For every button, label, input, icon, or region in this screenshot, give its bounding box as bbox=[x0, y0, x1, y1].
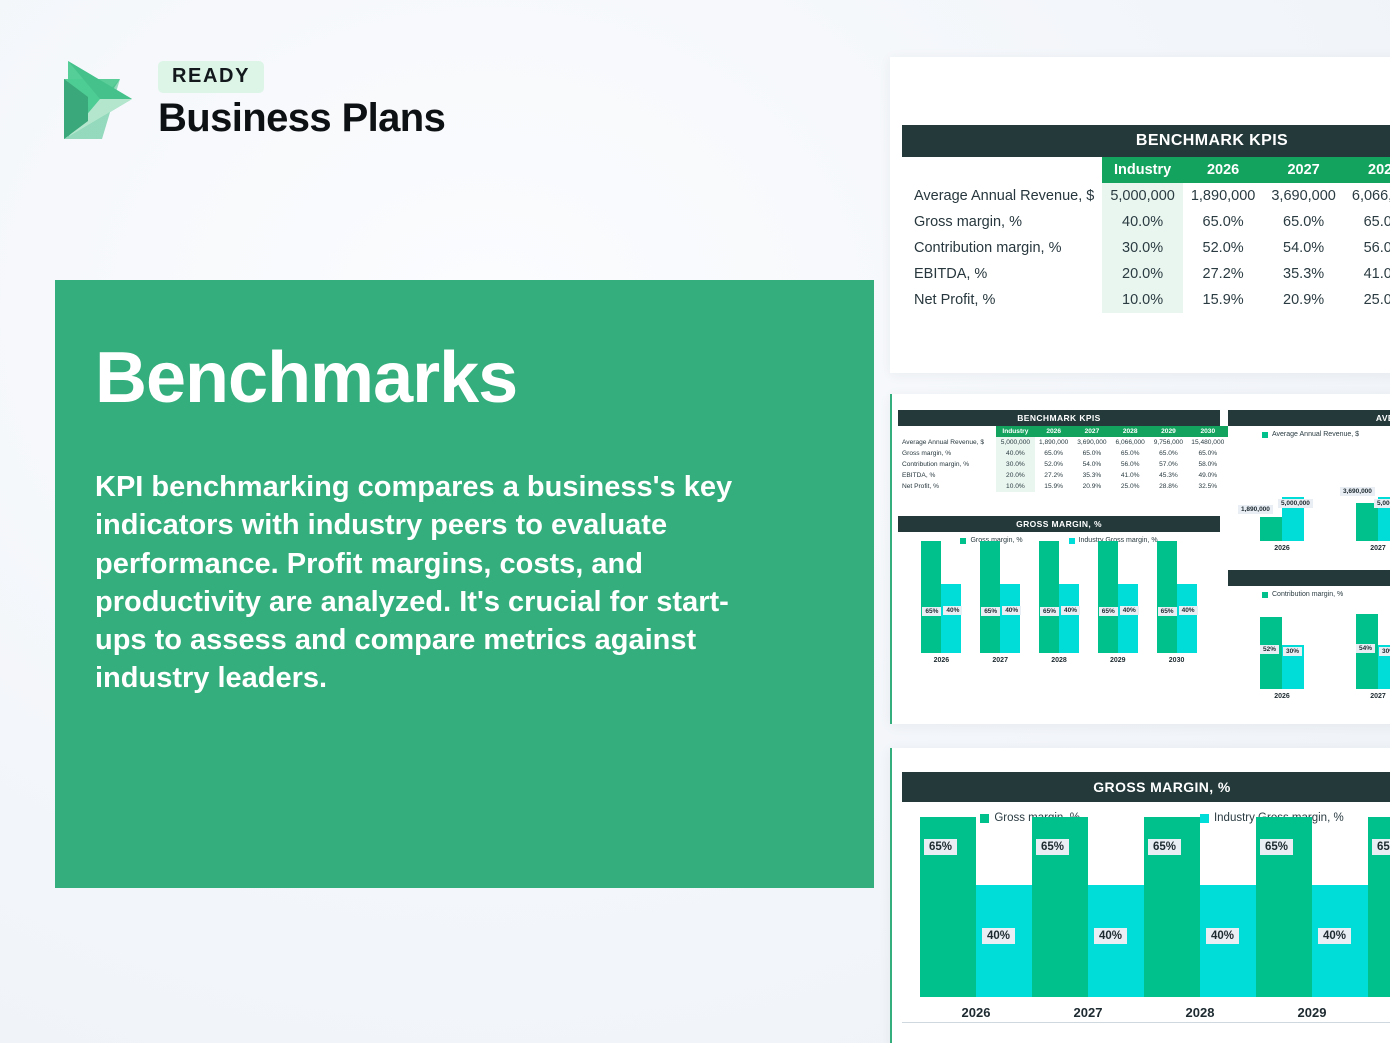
legend-item-contribution-margin: Contribution margin, % bbox=[1262, 591, 1343, 598]
cell-2026: 65.0% bbox=[1183, 209, 1264, 235]
bar-value-label: 65% bbox=[1040, 607, 1059, 616]
cell-2027: 65.0% bbox=[1263, 209, 1344, 235]
bar-industry-gross-margin: 40% bbox=[1088, 885, 1144, 997]
cell-2028: 56.0% bbox=[1111, 459, 1149, 470]
cell-2029: 28.8% bbox=[1149, 481, 1187, 492]
table-header-row: Industry 2026 2027 2028 2029 2030 bbox=[902, 157, 1390, 183]
bar-group: 1,890,000 5,000,000 2026 bbox=[1260, 497, 1304, 552]
bar-value-label: 40% bbox=[1061, 606, 1080, 615]
legend-label: Contribution margin, % bbox=[1272, 591, 1343, 598]
chart-plot-area: 65% 40% 2026 65% 40% 2027 65% 40% 2028 6… bbox=[902, 828, 1390, 1020]
bar-revenue: 1,890,000 bbox=[1260, 517, 1282, 541]
chart-gross-margin-small: GROSS MARGIN, % Gross margin, % Industry… bbox=[898, 516, 1220, 664]
cell-2029: 9,756,000 bbox=[1149, 437, 1187, 448]
cell-2030: 32.5% bbox=[1188, 481, 1228, 492]
bar-contribution-margin: 52% bbox=[1260, 617, 1282, 689]
table-row: Average Annual Revenue, $ 5,000,000 1,89… bbox=[902, 183, 1390, 209]
chart-average-annual-revenue: AVERAGE ANNUAL REVENUE, $ Average Annual… bbox=[1228, 410, 1390, 552]
x-axis-label: 2027 bbox=[992, 657, 1008, 664]
cell-industry: 10.0% bbox=[996, 481, 1034, 492]
cell-2028: 65.0% bbox=[1111, 448, 1149, 459]
x-axis-label: 2027 bbox=[1370, 545, 1386, 552]
table-row: Net Profit, % 10.0% 15.9% 20.9% 25.0% 28… bbox=[898, 481, 1228, 492]
table-row: Contribution margin, % 30.0% 52.0% 54.0%… bbox=[898, 459, 1228, 470]
bar-value-label: 65% bbox=[1158, 607, 1177, 616]
cell-industry: 10.0% bbox=[1102, 287, 1183, 313]
row-label: Gross margin, % bbox=[898, 448, 996, 459]
cell-industry: 40.0% bbox=[996, 448, 1034, 459]
col-header-2026: 2026 bbox=[1035, 426, 1073, 437]
row-label: Contribution margin, % bbox=[898, 459, 996, 470]
bar-gross-margin: 65% bbox=[1039, 541, 1059, 653]
x-axis-label: 2027 bbox=[1074, 1005, 1103, 1020]
row-label: EBITDA, % bbox=[898, 470, 996, 481]
bar-value-label: 40% bbox=[1094, 928, 1127, 944]
cell-industry: 5,000,000 bbox=[1102, 183, 1183, 209]
bar-group: 65% 40% 2028 bbox=[1144, 817, 1256, 1020]
cell-2027: 35.3% bbox=[1073, 470, 1111, 481]
x-axis-label: 2026 bbox=[1274, 545, 1290, 552]
bar-gross-margin: 65% bbox=[920, 817, 976, 997]
row-label: Contribution margin, % bbox=[902, 235, 1102, 261]
bar-industry-gross-margin: 40% bbox=[1312, 885, 1368, 997]
bar-industry-revenue: 5,000,000 bbox=[1282, 497, 1304, 541]
bar-gross-margin: 65% bbox=[1032, 817, 1088, 997]
chart-title: AVERAGE ANNUAL REVENUE, $ bbox=[1228, 410, 1390, 426]
bar-industry-contribution: 30% bbox=[1282, 645, 1304, 689]
bar-value-label: 5,000,000 bbox=[1374, 499, 1390, 508]
x-axis-label: 2026 bbox=[1274, 693, 1290, 700]
cell-2026: 65.0% bbox=[1035, 448, 1073, 459]
col-header-industry: Industry bbox=[1102, 157, 1183, 183]
cell-2029: 45.3% bbox=[1149, 470, 1187, 481]
chart-title: CONTRIBUTION MARGIN, % bbox=[1228, 570, 1390, 586]
kpi-table-card-large: BENCHMARK KPIS Industry 2026 2027 2028 2… bbox=[890, 57, 1390, 373]
bar-value-label: 40% bbox=[1002, 606, 1021, 615]
cell-2028: 65.0% bbox=[1344, 209, 1390, 235]
benchmark-kpis-widget-small: BENCHMARK KPIS Industry 2026 2027 2028 2… bbox=[898, 410, 1228, 492]
bar-gross-margin: 65% bbox=[980, 541, 1000, 653]
bar-value-label: 65% bbox=[1148, 839, 1181, 855]
play-triangle-logo-icon bbox=[58, 55, 138, 145]
bar-value-label: 65% bbox=[1260, 839, 1293, 855]
cell-industry: 20.0% bbox=[1102, 261, 1183, 287]
bar-value-label: 40% bbox=[943, 606, 962, 615]
cell-2026: 15.9% bbox=[1183, 287, 1264, 313]
x-axis-label: 2026 bbox=[962, 1005, 991, 1020]
cell-2026: 52.0% bbox=[1035, 459, 1073, 470]
cell-industry: 40.0% bbox=[1102, 209, 1183, 235]
bar-value-label: 40% bbox=[1206, 928, 1239, 944]
cell-2030: 65.0% bbox=[1188, 448, 1228, 459]
table-row: Net Profit, % 10.0% 15.9% 20.9% 25.0% 28… bbox=[902, 287, 1390, 313]
legend-item-average-annual-revenue: Average Annual Revenue, $ bbox=[1262, 431, 1359, 438]
cell-industry: 30.0% bbox=[996, 459, 1034, 470]
bar-industry-revenue: 5,000,000 bbox=[1378, 497, 1390, 541]
cell-2027: 20.9% bbox=[1073, 481, 1111, 492]
x-axis-label: 2028 bbox=[1186, 1005, 1215, 1020]
bar-value-label: 54% bbox=[1356, 644, 1375, 653]
chart-title: GROSS MARGIN, % bbox=[898, 516, 1220, 532]
bar-group: 54% 30% 2027 bbox=[1356, 614, 1390, 700]
cell-2028: 41.0% bbox=[1111, 470, 1149, 481]
benchmark-kpis-title: BENCHMARK KPIS bbox=[902, 125, 1390, 157]
bar-gross-margin: 65% bbox=[1157, 541, 1177, 653]
bar-industry-gross-margin: 40% bbox=[1059, 584, 1079, 653]
chart-gross-margin-large: GROSS MARGIN, % Gross margin, % Industry… bbox=[902, 772, 1390, 1023]
bar-group: 52% 30% 2026 bbox=[1260, 617, 1304, 700]
col-header-2029: 2029 bbox=[1149, 426, 1187, 437]
bar-industry-gross-margin: 40% bbox=[1118, 584, 1138, 653]
cell-2028: 25.0% bbox=[1111, 481, 1149, 492]
cell-2028: 25.0% bbox=[1344, 287, 1390, 313]
cell-2027: 54.0% bbox=[1263, 235, 1344, 261]
bar-group: 65% 40% 2026 bbox=[920, 817, 1032, 1020]
brand-ready-chip: READY bbox=[158, 61, 264, 93]
bar-value-label: 30% bbox=[1379, 647, 1390, 656]
cell-2029: 65.0% bbox=[1149, 448, 1187, 459]
chart-legend: Average Annual Revenue, $ bbox=[1228, 426, 1390, 440]
bar-value-label: 40% bbox=[1179, 606, 1198, 615]
table-header-row: Industry 2026 2027 2028 2029 2030 bbox=[898, 426, 1228, 437]
benchmark-kpis-title-small: BENCHMARK KPIS bbox=[898, 410, 1220, 426]
cell-2030: 49.0% bbox=[1188, 470, 1228, 481]
cell-2030: 58.0% bbox=[1188, 459, 1228, 470]
cell-2027: 20.9% bbox=[1263, 287, 1344, 313]
row-label: Gross margin, % bbox=[902, 209, 1102, 235]
cell-2027: 65.0% bbox=[1073, 448, 1111, 459]
bar-industry-gross-margin: 40% bbox=[1000, 584, 1020, 653]
bar-gross-margin: 65% bbox=[1368, 817, 1390, 997]
cell-2030: 15,480,000 bbox=[1188, 437, 1228, 448]
bar-gross-margin: 65% bbox=[1098, 541, 1118, 653]
col-header-2030: 2030 bbox=[1188, 426, 1228, 437]
col-header-industry: Industry bbox=[996, 426, 1034, 437]
cell-2028: 56.0% bbox=[1344, 235, 1390, 261]
bar-group: 65% 40% 2029 bbox=[1256, 817, 1368, 1020]
legend-swatch-icon bbox=[1262, 592, 1268, 598]
chart-card-bottom: GROSS MARGIN, % Gross margin, % Industry… bbox=[890, 748, 1390, 1043]
benchmark-kpis-table: Industry 2026 2027 2028 2029 2030 Averag… bbox=[902, 157, 1390, 313]
bar-group: 65% 40% 2027 bbox=[980, 541, 1020, 664]
bar-contribution-margin: 54% bbox=[1356, 614, 1378, 689]
cell-2028: 6,066,000 bbox=[1111, 437, 1149, 448]
table-row: Average Annual Revenue, $ 5,000,000 1,89… bbox=[898, 437, 1228, 448]
cell-2026: 1,890,000 bbox=[1035, 437, 1073, 448]
cell-2027: 3,690,000 bbox=[1073, 437, 1111, 448]
cell-2026: 27.2% bbox=[1183, 261, 1264, 287]
bar-group: 65% 40% 2029 bbox=[1098, 541, 1138, 664]
table-row: Gross margin, % 40.0% 65.0% 65.0% 65.0% … bbox=[902, 209, 1390, 235]
x-axis-label: 2028 bbox=[1051, 657, 1067, 664]
bar-gross-margin: 65% bbox=[921, 541, 941, 653]
bar-revenue: 3,690,000 bbox=[1356, 503, 1378, 541]
bar-value-label: 65% bbox=[981, 607, 1000, 616]
col-header-2026: 2026 bbox=[1183, 157, 1264, 183]
bar-value-label: 65% bbox=[1036, 839, 1069, 855]
col-header-2028: 2028 bbox=[1111, 426, 1149, 437]
page-description: KPI benchmarking compares a business's k… bbox=[95, 468, 755, 698]
cell-industry: 5,000,000 bbox=[996, 437, 1034, 448]
cell-2027: 35.3% bbox=[1263, 261, 1344, 287]
row-label: Average Annual Revenue, $ bbox=[902, 183, 1102, 209]
table-row: Gross margin, % 40.0% 65.0% 65.0% 65.0% … bbox=[898, 448, 1228, 459]
bar-industry-gross-margin: 40% bbox=[1177, 584, 1197, 653]
row-label: Average Annual Revenue, $ bbox=[898, 437, 996, 448]
benchmark-kpis-table-small: Industry 2026 2027 2028 2029 2030 Averag… bbox=[898, 426, 1228, 492]
chart-plot-area: 52% 30% 2026 54% 30% 2027 56% 30% 2028 bbox=[1228, 600, 1390, 700]
legend-label: Average Annual Revenue, $ bbox=[1272, 431, 1359, 438]
mid-right-column: AVERAGE ANNUAL REVENUE, $ Average Annual… bbox=[1228, 394, 1390, 724]
col-header-2027: 2027 bbox=[1263, 157, 1344, 183]
bar-value-label: 3,690,000 bbox=[1340, 487, 1375, 496]
chart-legend: Contribution margin, % bbox=[1228, 586, 1390, 600]
content-panel: Benchmarks KPI benchmarking compares a b… bbox=[55, 280, 874, 888]
col-header-2028: 2028 bbox=[1344, 157, 1390, 183]
bar-industry-gross-margin: 40% bbox=[1200, 885, 1256, 997]
bar-industry-gross-margin: 40% bbox=[941, 584, 961, 653]
cell-2027: 3,690,000 bbox=[1263, 183, 1344, 209]
chart-plot-area: 65% 40% 2026 65% 40% 2027 65% 40% 2028 6… bbox=[898, 546, 1220, 664]
brand-name: Business Plans bbox=[158, 97, 445, 139]
cell-2026: 1,890,000 bbox=[1183, 183, 1264, 209]
x-axis-label: 2029 bbox=[1298, 1005, 1327, 1020]
benchmark-kpis-widget: BENCHMARK KPIS Industry 2026 2027 2028 2… bbox=[902, 125, 1390, 313]
chart-plot-area: 1,890,000 5,000,000 2026 3,690,000 5,000… bbox=[1228, 440, 1390, 552]
bar-group: 65% 40% 2028 bbox=[1039, 541, 1079, 664]
bar-value-label: 5,000,000 bbox=[1278, 499, 1313, 508]
bar-value-label: 40% bbox=[1120, 606, 1139, 615]
bar-group: 3,690,000 5,000,000 2027 bbox=[1356, 497, 1390, 552]
cell-2029: 57.0% bbox=[1149, 459, 1187, 470]
cell-2026: 52.0% bbox=[1183, 235, 1264, 261]
x-axis-label: 2030 bbox=[1169, 657, 1185, 664]
bar-value-label: 30% bbox=[1283, 647, 1302, 656]
cell-2026: 15.9% bbox=[1035, 481, 1073, 492]
bar-group: 65% 40% 2030 bbox=[1157, 541, 1197, 664]
bar-industry-contribution: 30% bbox=[1378, 645, 1390, 689]
cell-2026: 27.2% bbox=[1035, 470, 1073, 481]
x-axis-label: 2026 bbox=[934, 657, 950, 664]
col-header-2027: 2027 bbox=[1073, 426, 1111, 437]
mid-left-column: BENCHMARK KPIS Industry 2026 2027 2028 2… bbox=[898, 394, 1228, 724]
legend-swatch-icon bbox=[1262, 432, 1268, 438]
table-row: EBITDA, % 20.0% 27.2% 35.3% 41.0% 45.3% … bbox=[898, 470, 1228, 481]
cell-industry: 20.0% bbox=[996, 470, 1034, 481]
bar-group: 65% 40% 2026 bbox=[921, 541, 961, 664]
bar-value-label: 65% bbox=[922, 607, 941, 616]
x-axis-label: 2029 bbox=[1110, 657, 1126, 664]
cell-industry: 30.0% bbox=[1102, 235, 1183, 261]
x-axis-line bbox=[902, 1022, 1390, 1023]
bar-gross-margin: 65% bbox=[1256, 817, 1312, 997]
table-row: Contribution margin, % 30.0% 52.0% 54.0%… bbox=[902, 235, 1390, 261]
row-label: Net Profit, % bbox=[902, 287, 1102, 313]
row-label: EBITDA, % bbox=[902, 261, 1102, 287]
bar-value-label: 65% bbox=[1372, 839, 1390, 855]
bar-value-label: 40% bbox=[1318, 928, 1351, 944]
x-axis-label: 2027 bbox=[1370, 693, 1386, 700]
dashboard-card-middle: BENCHMARK KPIS Industry 2026 2027 2028 2… bbox=[890, 394, 1390, 724]
row-label: Net Profit, % bbox=[898, 481, 996, 492]
bar-gross-margin: 65% bbox=[1144, 817, 1200, 997]
cell-2028: 6,066,000 bbox=[1344, 183, 1390, 209]
slide-canvas: READY Business Plans Benchmarks KPI benc… bbox=[0, 0, 1390, 1043]
bar-industry-gross-margin: 40% bbox=[976, 885, 1032, 997]
bar-value-label: 65% bbox=[924, 839, 957, 855]
bar-group: 65% 40% 2030 bbox=[1368, 817, 1390, 1020]
bar-value-label: 65% bbox=[1099, 607, 1118, 616]
bar-value-label: 52% bbox=[1260, 645, 1279, 654]
page-title: Benchmarks bbox=[95, 342, 804, 414]
brand-logo-lockup: READY Business Plans bbox=[58, 55, 445, 145]
chart-contribution-margin: CONTRIBUTION MARGIN, % Contribution marg… bbox=[1228, 570, 1390, 700]
cell-2027: 54.0% bbox=[1073, 459, 1111, 470]
bar-value-label: 1,890,000 bbox=[1238, 505, 1273, 514]
table-row: EBITDA, % 20.0% 27.2% 35.3% 41.0% 45.3% … bbox=[902, 261, 1390, 287]
bar-group: 65% 40% 2027 bbox=[1032, 817, 1144, 1020]
chart-title: GROSS MARGIN, % bbox=[902, 772, 1390, 802]
cell-2028: 41.0% bbox=[1344, 261, 1390, 287]
bar-value-label: 40% bbox=[982, 928, 1015, 944]
